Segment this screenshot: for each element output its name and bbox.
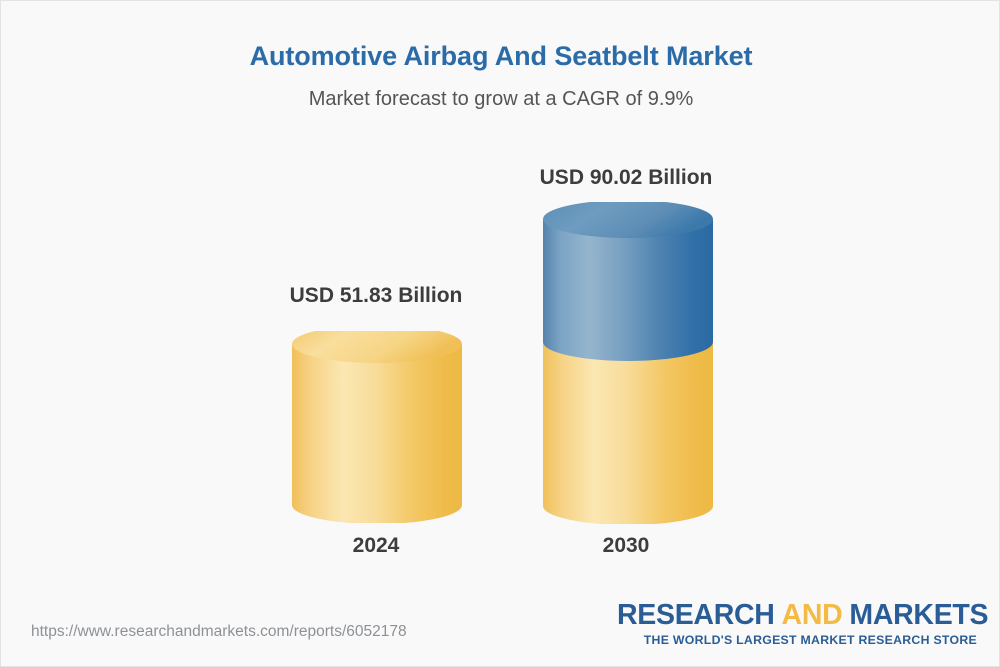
infographic-canvas: Automotive Airbag And Seatbelt Market Ma… [0,0,1000,667]
chart-plot-area: USD 51.83 Billion [1,1,1000,601]
brand-word-research: RESEARCH [617,599,775,631]
bar-category-label-2030: 2030 [466,534,786,558]
bar-value-label-2024: USD 51.83 Billion [216,284,536,308]
brand-word-markets: MARKETS [849,599,988,631]
cylinder-bar-2030 [539,202,717,524]
brand-logo[interactable]: RESEARCHANDMARKETS THE WORLD'S LARGEST M… [617,601,977,647]
cylinder-bar-2024 [289,331,465,523]
brand-wordmark: RESEARCHANDMARKETS [617,601,977,631]
brand-tagline: THE WORLD'S LARGEST MARKET RESEARCH STOR… [617,633,977,647]
source-url[interactable]: https://www.researchandmarkets.com/repor… [31,623,407,641]
bar-value-label-2030: USD 90.02 Billion [466,166,786,190]
brand-word-and: AND [775,599,850,631]
